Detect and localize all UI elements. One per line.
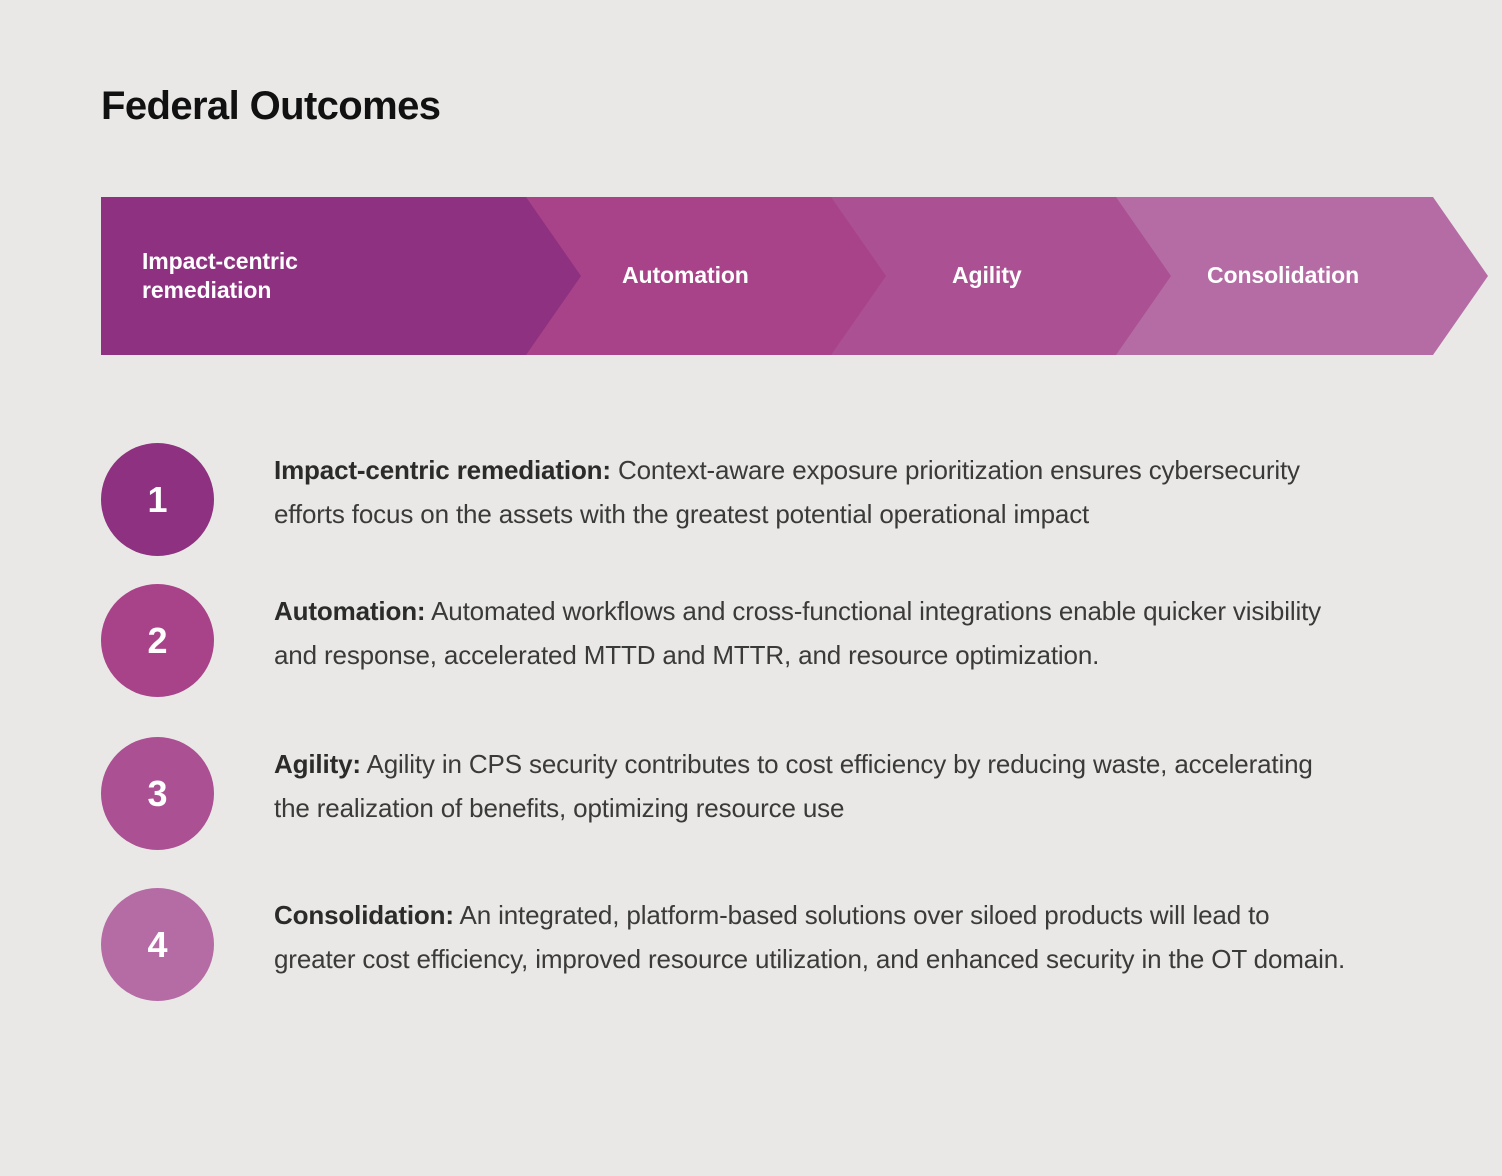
page-title: Federal Outcomes xyxy=(101,84,440,128)
outcome-badge-4-number: 4 xyxy=(147,924,167,966)
outcome-text-1: Impact-centric remediation: Context-awar… xyxy=(274,443,1354,536)
outcome-badge-3: 3 xyxy=(101,737,214,850)
outcome-badge-3-number: 3 xyxy=(147,773,167,815)
outcome-list: 1 Impact-centric remediation: Context-aw… xyxy=(101,443,1401,1001)
outcome-body-3: Agility in CPS security contributes to c… xyxy=(274,749,1313,823)
outcome-text-2: Automation: Automated workflows and cros… xyxy=(274,584,1354,677)
outcome-body-2: Automated workflows and cross-functional… xyxy=(274,596,1321,670)
outcome-badge-1: 1 xyxy=(101,443,214,556)
outcome-badge-4: 4 xyxy=(101,888,214,1001)
outcome-text-4: Consolidation: An integrated, platform-b… xyxy=(274,888,1354,981)
chevron-step-3-label: Agility xyxy=(952,261,1022,290)
chevron-step-1-label-line2: remediation xyxy=(142,276,298,305)
list-item: 3 Agility: Agility in CPS security contr… xyxy=(101,737,1401,850)
outcome-badge-2: 2 xyxy=(101,584,214,697)
list-item: 2 Automation: Automated workflows and cr… xyxy=(101,584,1401,697)
outcome-text-3: Agility: Agility in CPS security contrib… xyxy=(274,737,1354,830)
outcome-badge-2-number: 2 xyxy=(147,620,167,662)
chevron-step-4[interactable]: Consolidation xyxy=(1116,197,1488,355)
chevron-step-1[interactable]: Impact-centric remediation xyxy=(101,197,581,355)
chevron-step-2-label: Automation xyxy=(622,261,749,290)
outcome-term-1: Impact-centric remediation: xyxy=(274,455,611,485)
outcome-term-2: Automation: xyxy=(274,596,425,626)
list-item: 4 Consolidation: An integrated, platform… xyxy=(101,888,1401,1001)
outcome-badge-1-number: 1 xyxy=(147,479,167,521)
chevron-step-4-label: Consolidation xyxy=(1207,261,1359,290)
outcome-term-4: Consolidation: xyxy=(274,900,454,930)
process-chevron-banner: Impact-centric remediation Automation Ag… xyxy=(101,197,1388,355)
list-item: 1 Impact-centric remediation: Context-aw… xyxy=(101,443,1401,556)
chevron-step-1-label-line1: Impact-centric xyxy=(142,247,298,276)
outcome-term-3: Agility: xyxy=(274,749,361,779)
chevron-step-1-label: Impact-centric remediation xyxy=(142,247,298,306)
